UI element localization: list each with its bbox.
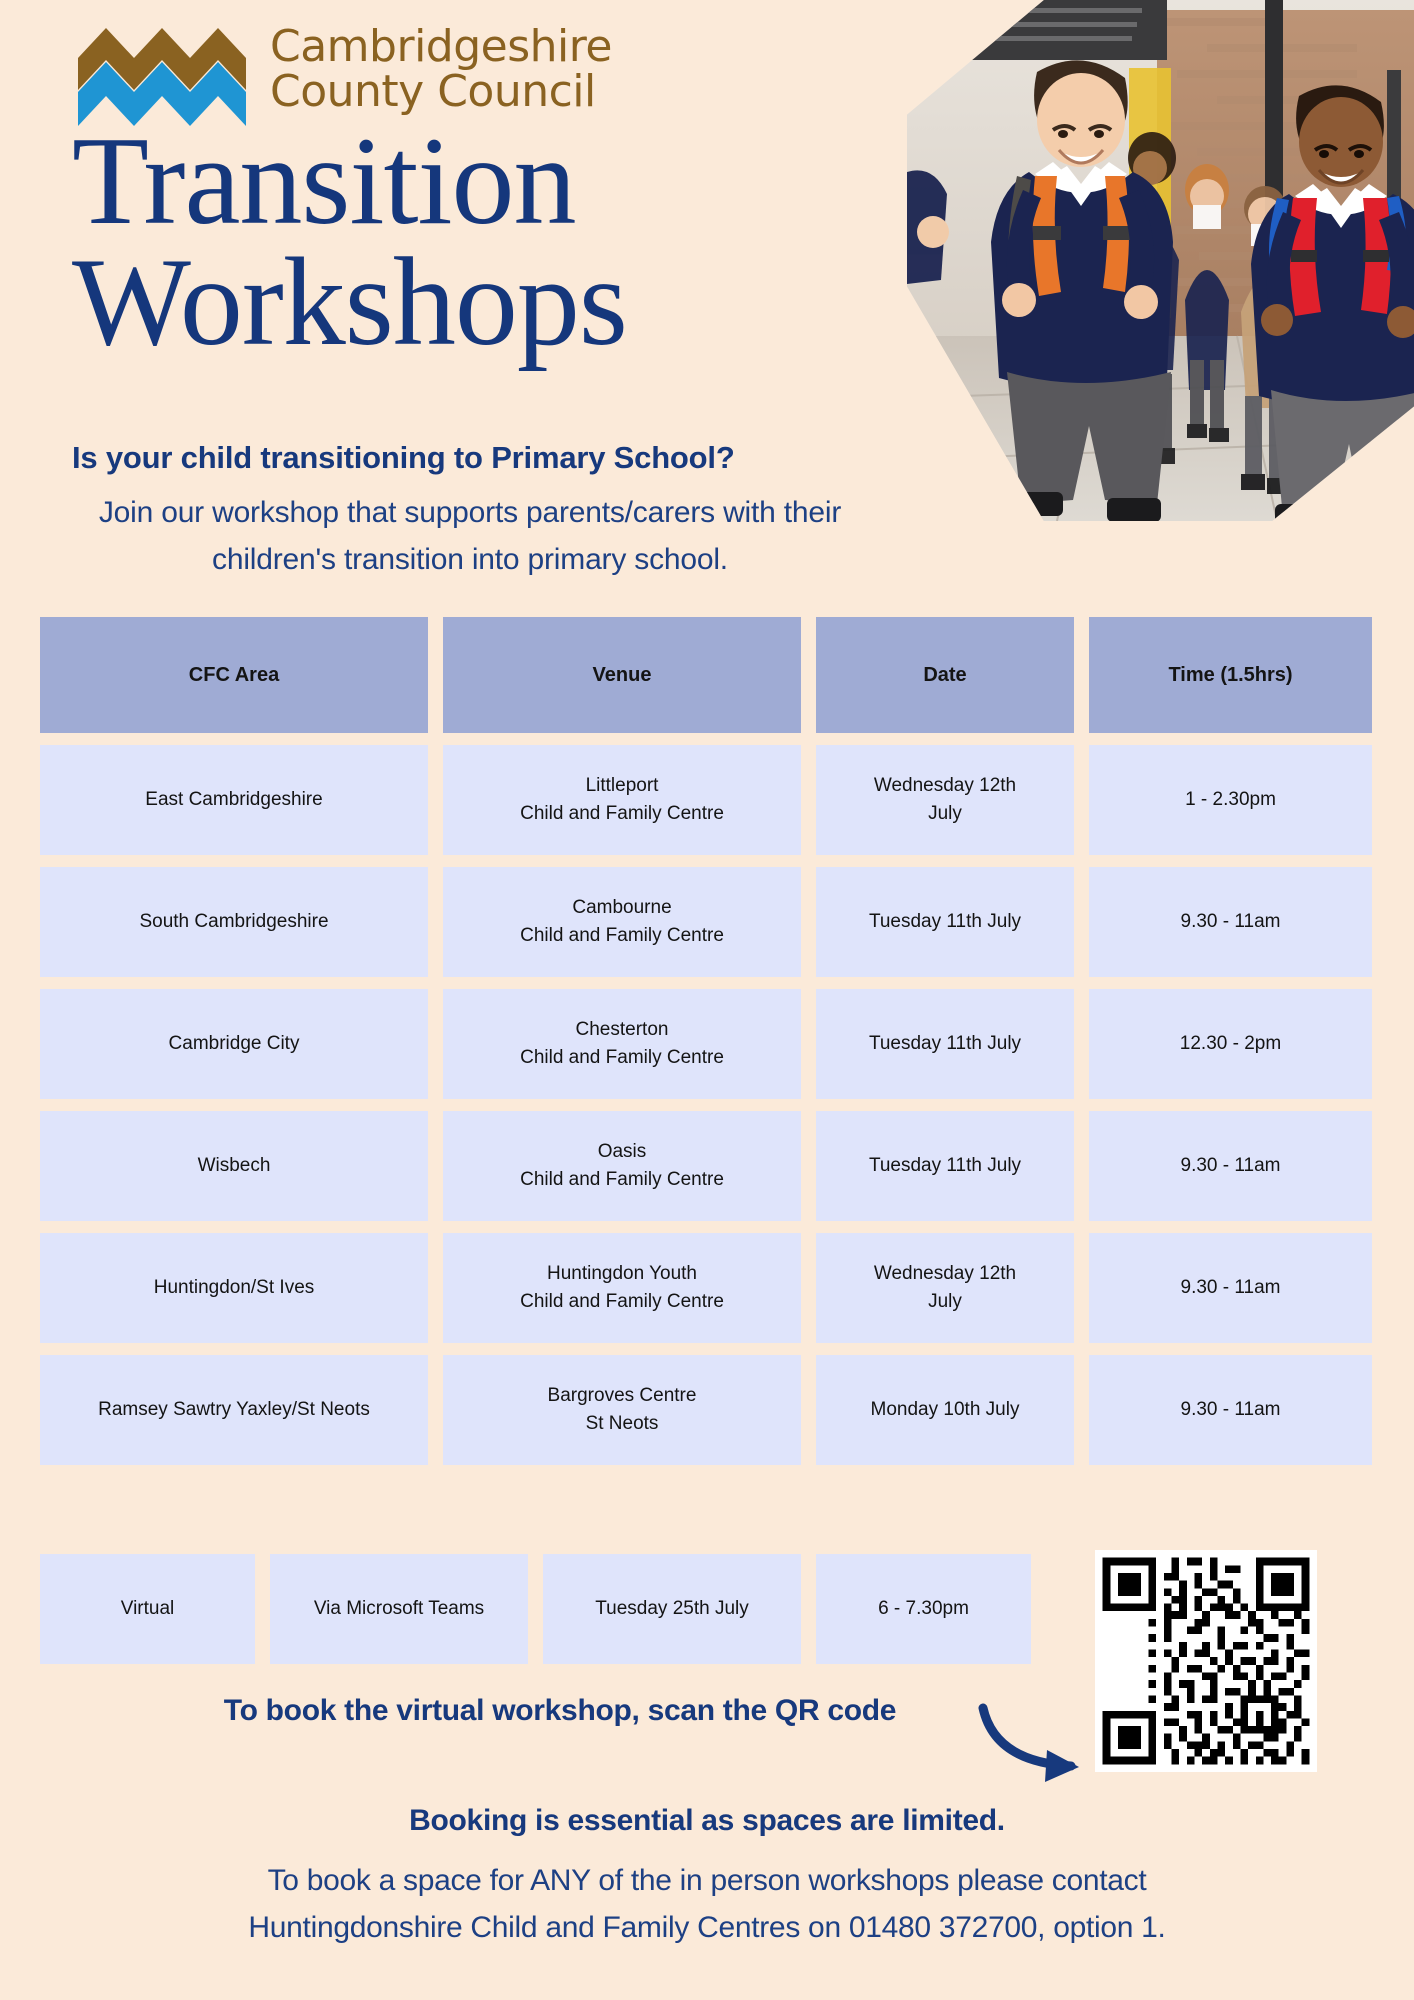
cell-area: East Cambridgeshire [40, 745, 428, 855]
cell-area: Virtual [40, 1554, 255, 1664]
footer-bold-text: Booking is essential as spaces are limit… [0, 1804, 1414, 1838]
logo-wordmark: Cambridgeshire County Council [270, 25, 612, 115]
cell-date: Wednesday 12th July [816, 1233, 1074, 1343]
cell-area: Huntingdon/St Ives [40, 1233, 428, 1343]
cell-date: Tuesday 11th July [816, 1111, 1074, 1221]
cell-venue: Cambourne Child and Family Centre [443, 867, 801, 977]
cell-date: Tuesday 25th July [543, 1554, 801, 1664]
cell-area: Ramsey Sawtry Yaxley/St Neots [40, 1355, 428, 1465]
poster-root: Cambridgeshire County Council Transition… [0, 0, 1414, 2000]
cell-area: South Cambridgeshire [40, 867, 428, 977]
virtual-workshop-row: Virtual Via Microsoft Teams Tuesday 25th… [40, 1554, 1031, 1664]
cell-time: 1 - 2.30pm [1089, 745, 1372, 855]
column-header-cfc-area: CFC Area [40, 617, 428, 733]
cell-date: Tuesday 11th July [816, 989, 1074, 1099]
table-header-row: CFC Area Venue Date Time (1.5hrs) [40, 617, 1374, 733]
cta-text: To book the virtual workshop, scan the Q… [60, 1694, 1060, 1728]
cell-venue: Huntingdon Youth Child and Family Centre [443, 1233, 801, 1343]
intro-paragraph: Join our workshop that supports parents/… [36, 490, 904, 583]
table-row: Ramsey Sawtry Yaxley/St Neots Bargroves … [40, 1355, 1374, 1465]
qr-code-image[interactable] [1095, 1550, 1317, 1772]
cell-venue: Chesterton Child and Family Centre [443, 989, 801, 1099]
footer-contact-text: To book a space for ANY of the in person… [40, 1858, 1374, 1951]
cell-venue: Via Microsoft Teams [270, 1554, 528, 1664]
school-children-photo [907, 0, 1414, 521]
subtitle-question: Is your child transitioning to Primary S… [72, 440, 872, 476]
hero-photo [907, 0, 1414, 521]
workshops-table: CFC Area Venue Date Time (1.5hrs) East C… [40, 617, 1374, 1465]
council-zigzag-icon [78, 14, 248, 126]
table-row: Cambridge City Chesterton Child and Fami… [40, 989, 1374, 1099]
cell-venue: Oasis Child and Family Centre [443, 1111, 801, 1221]
cell-time: 12.30 - 2pm [1089, 989, 1372, 1099]
cell-area: Cambridge City [40, 989, 428, 1099]
table-row: East Cambridgeshire Littleport Child and… [40, 745, 1374, 855]
table-row: Huntingdon/St Ives Huntingdon Youth Chil… [40, 1233, 1374, 1343]
table-row: Wisbech Oasis Child and Family Centre Tu… [40, 1111, 1374, 1221]
table-row: South Cambridgeshire Cambourne Child and… [40, 867, 1374, 977]
page-title: Transition Workshops [72, 122, 627, 364]
cell-time: 9.30 - 11am [1089, 1355, 1372, 1465]
qr-code[interactable] [1095, 1550, 1317, 1772]
cell-venue: Bargroves Centre St Neots [443, 1355, 801, 1465]
column-header-venue: Venue [443, 617, 801, 733]
cell-time: 9.30 - 11am [1089, 1111, 1372, 1221]
cell-time: 9.30 - 11am [1089, 1233, 1372, 1343]
cell-area: Wisbech [40, 1111, 428, 1221]
cell-time: 6 - 7.30pm [816, 1554, 1031, 1664]
cell-date: Tuesday 11th July [816, 867, 1074, 977]
column-header-time: Time (1.5hrs) [1089, 617, 1372, 733]
cell-time: 9.30 - 11am [1089, 867, 1372, 977]
cell-date: Monday 10th July [816, 1355, 1074, 1465]
cell-date: Wednesday 12th July [816, 745, 1074, 855]
column-header-date: Date [816, 617, 1074, 733]
brand-logo: Cambridgeshire County Council [78, 14, 612, 126]
cell-venue: Littleport Child and Family Centre [443, 745, 801, 855]
